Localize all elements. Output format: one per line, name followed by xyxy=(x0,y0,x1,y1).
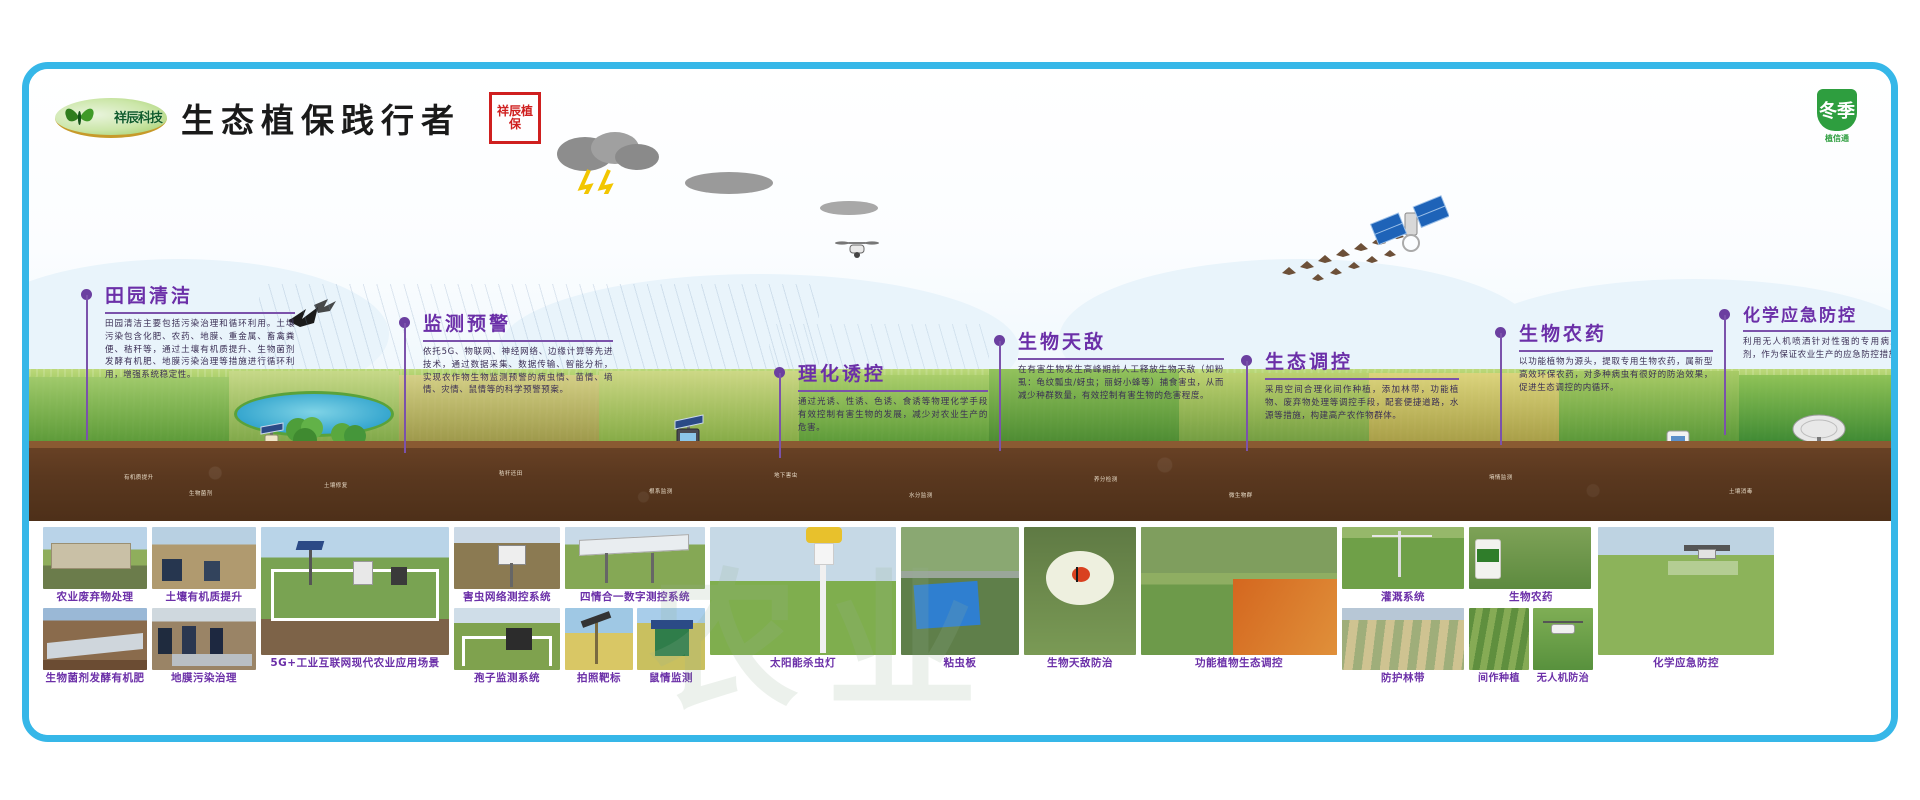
drone-icon xyxy=(834,237,880,267)
gallery-caption: 间作种植 xyxy=(1469,672,1529,685)
callout-stem xyxy=(1246,361,1248,451)
callout-shengwu-nongyao: 生物农药 以功能植物为源头，提取专用生物农药，属新型高效环保农药，对多种病虫有很… xyxy=(1495,319,1713,394)
callout-shengtai-tiaokong: 生态调控 采用空间合理化间作种植，添加林带，功能植物、废弃物处理等调控手段，配套… xyxy=(1241,347,1459,422)
gallery-item[interactable]: 灌溉系统 xyxy=(1342,527,1464,605)
callout-body: 依托5G、物联网、神经网络、边缘计算等先进技术，通过数据采集、数据传输、智能分析… xyxy=(423,346,613,397)
cloud-icon xyxy=(684,169,774,201)
gallery-caption: 孢子监测系统 xyxy=(454,672,560,686)
gallery-item[interactable]: 土壤有机质提升 xyxy=(152,527,256,605)
callout-stem xyxy=(404,323,406,453)
soil-label: 土壤消毒 xyxy=(1729,487,1753,495)
gallery-column: 太阳能杀虫灯 xyxy=(710,527,896,671)
gallery-caption: 害虫网络测控系统 xyxy=(454,591,560,605)
gallery-caption: 地膜污染治理 xyxy=(152,672,256,686)
corner-badge: 冬季 植信通 xyxy=(1809,89,1865,145)
soil-label: 微生物群 xyxy=(1229,491,1253,499)
storm-cloud-icon xyxy=(549,124,669,198)
gallery-item[interactable]: 害虫网络测控系统 xyxy=(454,527,560,605)
callout-shengwu-tiandi: 生物天敌 在有害生物发生高峰期前人工释放生物天敌（如粉虱：龟纹瓢虫/蚜虫；丽蚜小… xyxy=(994,327,1224,402)
soil-label: 有机质提升 xyxy=(124,473,154,481)
soil-label: 秸秆还田 xyxy=(499,469,523,477)
callout-title: 监测预警 xyxy=(423,309,613,336)
callout-rule xyxy=(1743,330,1898,332)
gallery-caption: 鼠情监测 xyxy=(637,672,705,686)
gallery-caption: 拍照靶标 xyxy=(565,672,633,686)
photo-camera-target[interactable] xyxy=(565,608,633,670)
gallery-item[interactable]: 生物农药 xyxy=(1469,527,1593,605)
photo-rodent-monitor[interactable] xyxy=(637,608,705,670)
gallery-caption: 四情合一数字测控系统 xyxy=(565,591,705,605)
photo-gallery: 农业废弃物处理 生物菌剂发酵有机肥 土壤有机质提升 xyxy=(29,521,1891,742)
callout-title: 田园清洁 xyxy=(105,281,295,308)
callout-body: 以功能植物为源头，提取专用生物农药，属新型高效环保农药，对多种病虫有很好的防治效… xyxy=(1519,356,1713,394)
gallery-column: 生物天敌防治 xyxy=(1024,527,1136,671)
callout-stem xyxy=(86,295,88,440)
soil-label: 水分监测 xyxy=(909,491,933,499)
gallery-item[interactable]: 地膜污染治理 xyxy=(152,608,256,686)
callout-body: 在有害生物发生高峰期前人工释放生物天敌（如粉虱：龟纹瓢虫/蚜虫；丽蚜小蜂等）捕食… xyxy=(1018,364,1224,402)
gallery-column: 土壤有机质提升 地膜污染治理 xyxy=(152,527,256,685)
gallery-caption: 无人机防治 xyxy=(1533,672,1593,685)
gallery-item[interactable]: 5G+工业互联网现代农业应用场景 xyxy=(261,527,449,671)
soil-label: 生物菌剂 xyxy=(189,489,213,497)
photo-chemical-emergency[interactable] xyxy=(1598,527,1774,655)
brand-logo-text: 祥辰科技 xyxy=(114,107,167,126)
gallery-caption: 生物天敌防治 xyxy=(1024,657,1136,671)
gallery-caption: 生物农药 xyxy=(1469,591,1593,605)
photo-5g-scene[interactable] xyxy=(261,527,449,655)
callout-rule xyxy=(1018,358,1224,360)
gallery-caption: 农业废弃物处理 xyxy=(43,591,147,605)
gallery-column: 害虫网络测控系统 孢子监测系统 xyxy=(454,527,560,685)
gallery-caption: 化学应急防控 xyxy=(1598,657,1774,671)
gallery-row: 拍照靶标 鼠情监测 xyxy=(565,608,705,686)
photo-drone-control[interactable] xyxy=(1533,608,1593,670)
photo-irrigation[interactable] xyxy=(1342,527,1464,589)
photo-natural-enemy[interactable] xyxy=(1024,527,1136,655)
gallery-caption: 生物菌剂发酵有机肥 xyxy=(43,672,147,686)
soil-layer: 有机质提升 生物菌剂 土壤修复 秸秆还田 根系监测 地下害虫 水分监测 养分检测… xyxy=(29,441,1891,521)
gallery-caption: 粘虫板 xyxy=(901,657,1019,671)
photo-soil-organic[interactable] xyxy=(152,527,256,589)
photo-agri-waste[interactable] xyxy=(43,527,147,589)
callout-body: 采用空间合理化间作种植，添加林带，功能植物、废弃物处理等调控手段，配套便捷道路，… xyxy=(1265,384,1459,422)
gallery-item[interactable]: 四情合一数字测控系统 xyxy=(565,527,705,605)
callout-rule xyxy=(1519,350,1713,352)
callout-rule xyxy=(423,340,613,342)
photo-spore-monitor[interactable] xyxy=(454,608,560,670)
gallery-row: 间作种植 无人机防治 xyxy=(1469,608,1593,685)
callout-title: 化学应急防控 xyxy=(1743,301,1898,326)
gallery-item[interactable]: 粘虫板 xyxy=(901,527,1019,671)
gallery-caption: 太阳能杀虫灯 xyxy=(710,657,896,671)
gallery-item[interactable]: 间作种植 xyxy=(1469,608,1529,685)
gallery-item[interactable]: 化学应急防控 xyxy=(1598,527,1774,671)
gallery-item[interactable]: 生物菌剂发酵有机肥 xyxy=(43,608,147,686)
gallery-column: 生物农药 间作种植 无人机防治 xyxy=(1469,527,1593,685)
callout-stem xyxy=(779,373,781,458)
gallery-column: 粘虫板 xyxy=(901,527,1019,671)
callout-stem xyxy=(999,341,1001,451)
gallery-column: 5G+工业互联网现代农业应用场景 xyxy=(261,527,449,671)
stamp-seal: 祥辰植保 xyxy=(489,92,541,144)
gallery-item[interactable]: 无人机防治 xyxy=(1533,608,1593,685)
photo-bio-ferment[interactable] xyxy=(43,608,147,670)
gallery-item[interactable]: 功能植物生态调控 xyxy=(1141,527,1337,671)
gallery-item[interactable]: 孢子监测系统 xyxy=(454,608,560,686)
callout-tianyuan-qingjie: 田园清洁 田园清洁主要包括污染治理和循环利用。土壤污染包含化肥、农药、地膜、重金… xyxy=(81,281,295,382)
gallery-column: 化学应急防控 xyxy=(1598,527,1774,671)
photo-solar-lamp[interactable] xyxy=(710,527,896,655)
gallery-caption: 土壤有机质提升 xyxy=(152,591,256,605)
gallery-column: 灌溉系统 防护林带 xyxy=(1342,527,1464,685)
gallery-caption: 防护林带 xyxy=(1342,672,1464,686)
photo-intercropping[interactable] xyxy=(1469,608,1529,670)
callout-rule xyxy=(798,390,988,392)
photo-shelterbelt[interactable] xyxy=(1342,608,1464,670)
butterfly-icon xyxy=(63,102,97,136)
callout-body: 利用无人机喷洒针对性强的专用病虫害药剂，作为保证农业生产的应急防控措施。 xyxy=(1743,336,1898,362)
poster-frame: 祥辰科技 生态植保践行者 祥辰植保 冬季 植信通 田园清洁 田园清洁主要包括污染… xyxy=(22,62,1898,742)
callout-lihua-youkong: 理化诱控 通过光诱、性诱、色诱、食诱等物理化学手段有效控制有害生物的发展，减少对… xyxy=(774,359,988,434)
badge-label: 植信通 xyxy=(1825,133,1849,144)
gallery-column: 农业废弃物处理 生物菌剂发酵有机肥 xyxy=(43,527,147,685)
callout-title: 生物天敌 xyxy=(1018,327,1224,354)
brand-logo: 祥辰科技 xyxy=(55,98,167,138)
satellite-icon xyxy=(1369,187,1449,267)
photo-bio-pesticide[interactable] xyxy=(1469,527,1591,589)
gallery-column: 功能植物生态调控 xyxy=(1141,527,1337,671)
cloud-icon xyxy=(819,199,879,221)
photo-pest-network[interactable] xyxy=(454,527,560,589)
callout-body: 通过光诱、性诱、色诱、食诱等物理化学手段有效控制有害生物的发展，减少对农业生产的… xyxy=(798,396,988,434)
gallery-item[interactable]: 生物天敌防治 xyxy=(1024,527,1136,671)
photo-mulch-pollution[interactable] xyxy=(152,608,256,670)
gallery-item[interactable]: 鼠情监测 xyxy=(637,608,705,686)
callout-title: 生物农药 xyxy=(1519,319,1713,346)
callout-jiance-yujing: 监测预警 依托5G、物联网、神经网络、边缘计算等先进技术，通过数据采集、数据传输… xyxy=(399,309,613,397)
soil-label: 墒情监测 xyxy=(1489,473,1513,481)
callout-stem xyxy=(1500,333,1502,445)
soil-label: 地下害虫 xyxy=(774,471,798,479)
callout-title: 生态调控 xyxy=(1265,347,1459,374)
gallery-item[interactable]: 农业废弃物处理 xyxy=(43,527,147,605)
photo-functional-plants[interactable] xyxy=(1141,527,1337,655)
gallery-caption: 5G+工业互联网现代农业应用场景 xyxy=(261,657,449,671)
callout-rule xyxy=(105,312,295,314)
soil-label: 养分检测 xyxy=(1094,475,1118,483)
gallery-item[interactable]: 太阳能杀虫灯 xyxy=(710,527,896,671)
gallery-caption: 灌溉系统 xyxy=(1342,591,1464,605)
soil-label: 根系监测 xyxy=(649,487,673,495)
poster-header: 祥辰科技 生态植保践行者 祥辰植保 xyxy=(55,93,541,143)
gallery-item[interactable]: 拍照靶标 xyxy=(565,608,633,686)
gallery-column: 四情合一数字测控系统 拍照靶标 鼠情监测 xyxy=(565,527,705,685)
callout-huaxue-yingji-fangkong: 化学应急防控 利用无人机喷洒针对性强的专用病虫害药剂，作为保证农业生产的应急防控… xyxy=(1719,301,1898,362)
gallery-item[interactable]: 防护林带 xyxy=(1342,608,1464,686)
photo-four-in-one[interactable] xyxy=(565,527,705,589)
callout-stem xyxy=(1724,315,1726,435)
callout-title: 理化诱控 xyxy=(798,359,988,386)
soil-label: 土壤修复 xyxy=(324,481,348,489)
callout-rule xyxy=(1265,378,1459,380)
gallery-caption: 功能植物生态调控 xyxy=(1141,657,1337,671)
page-title: 生态植保践行者 xyxy=(181,94,461,142)
shield-icon: 冬季 xyxy=(1817,89,1857,131)
photo-sticky-trap[interactable] xyxy=(901,527,1019,655)
callout-body: 田园清洁主要包括污染治理和循环利用。土壤污染包含化肥、农药、地膜、重金属、畜禽粪… xyxy=(105,318,295,382)
